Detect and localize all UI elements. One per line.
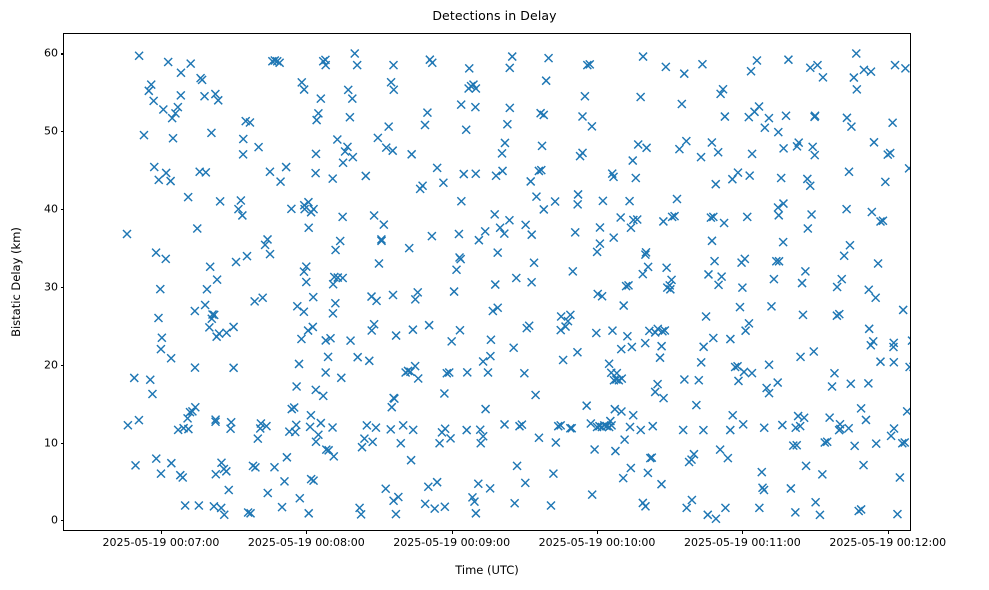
scatter-marker <box>405 244 413 252</box>
scatter-marker <box>302 278 310 286</box>
scatter-marker <box>506 64 514 72</box>
scatter-marker <box>280 477 288 485</box>
scatter-marker <box>481 227 489 235</box>
scatter-marker <box>331 299 339 307</box>
scatter-marker <box>157 345 165 353</box>
scatter-marker <box>505 216 513 224</box>
scatter-marker <box>503 120 511 128</box>
scatter-marker <box>799 311 807 319</box>
scatter-marker <box>527 177 535 185</box>
scatter-marker <box>538 142 546 150</box>
scatter-marker <box>591 446 599 454</box>
scatter-marker <box>535 434 543 442</box>
scatter-marker <box>765 114 773 122</box>
scatter-marker <box>775 211 783 219</box>
scatter-marker <box>140 131 148 139</box>
scatter-marker <box>654 380 662 388</box>
scatter-marker <box>259 294 267 302</box>
scatter-marker <box>254 435 262 443</box>
x-tick-mark <box>742 530 743 534</box>
scatter-marker <box>332 246 340 254</box>
scatter-marker <box>337 374 345 382</box>
scatter-marker <box>678 100 686 108</box>
scatter-marker <box>169 134 177 142</box>
scatter-marker <box>628 343 636 351</box>
scatter-marker <box>571 228 579 236</box>
scatter-marker <box>720 219 728 227</box>
scatter-marker <box>812 498 820 506</box>
scatter-marker <box>354 353 362 361</box>
scatter-marker <box>627 464 635 472</box>
scatter-marker <box>179 474 187 482</box>
scatter-marker <box>843 114 851 122</box>
scatter-marker <box>191 364 199 372</box>
scatter-marker <box>708 237 716 245</box>
scatter-marker <box>300 86 308 94</box>
scatter-marker <box>501 420 509 428</box>
scatter-marker <box>651 388 659 396</box>
scatter-marker <box>747 67 755 75</box>
scatter-marker <box>408 150 416 158</box>
scatter-marker <box>656 354 664 362</box>
scatter-marker <box>809 143 817 151</box>
scatter-marker <box>645 327 653 335</box>
scatter-marker <box>522 221 530 229</box>
scatter-marker <box>660 394 668 402</box>
scatter-marker <box>380 221 388 229</box>
scatter-marker <box>310 205 318 213</box>
y-axis-label-text: Bistatic Delay (km) <box>9 227 23 337</box>
scatter-marker <box>755 504 763 512</box>
scatter-marker <box>351 49 359 57</box>
scatter-marker <box>574 200 582 208</box>
scatter-marker <box>857 505 865 513</box>
scatter-marker <box>862 416 870 424</box>
scatter-marker <box>377 235 385 243</box>
scatter-marker <box>203 285 211 293</box>
scatter-marker <box>191 307 199 315</box>
x-tick-label: 2025-05-19 00:09:00 <box>393 536 510 549</box>
scatter-marker <box>847 123 855 131</box>
scatter-marker <box>436 439 444 447</box>
scatter-marker <box>463 368 471 376</box>
scatter-marker <box>738 259 746 267</box>
scatter-marker <box>349 153 357 161</box>
scatter-marker <box>621 436 629 444</box>
scatter-marker <box>489 307 497 315</box>
scatter-marker <box>780 144 788 152</box>
scatter-marker <box>414 288 422 296</box>
scatter-marker <box>319 392 327 400</box>
scatter-marker <box>177 69 185 77</box>
scatter-marker <box>804 225 812 233</box>
x-tick-mark <box>452 530 453 534</box>
x-tick-label: 2025-05-19 00:08:00 <box>248 536 365 549</box>
scatter-marker <box>874 260 882 268</box>
scatter-marker <box>184 193 192 201</box>
scatter-marker <box>889 119 897 127</box>
scatter-marker <box>528 231 536 239</box>
scatter-marker <box>387 425 395 433</box>
scatter-marker <box>465 64 473 72</box>
scatter-marker <box>611 405 619 413</box>
scatter-marker <box>767 302 775 310</box>
scatter-marker <box>463 426 471 434</box>
scatter-marker <box>906 363 910 371</box>
scatter-marker <box>574 190 582 198</box>
scatter-marker <box>239 150 247 158</box>
y-tick-mark <box>61 209 65 210</box>
scatter-marker <box>845 168 853 176</box>
scatter-marker <box>845 424 853 432</box>
scatter-points-layer <box>64 34 910 530</box>
x-tick-label: 2025-05-19 00:10:00 <box>539 536 656 549</box>
scatter-marker <box>840 252 848 260</box>
scatter-marker <box>525 322 533 330</box>
scatter-marker <box>222 467 230 475</box>
scatter-marker <box>167 459 175 467</box>
scatter-marker <box>770 275 778 283</box>
scatter-marker <box>753 56 761 64</box>
scatter-marker <box>375 260 383 268</box>
y-tick-mark <box>61 520 65 521</box>
scatter-marker <box>167 177 175 185</box>
scatter-marker <box>745 113 753 121</box>
scatter-marker <box>787 484 795 492</box>
scatter-marker <box>679 426 687 434</box>
scatter-marker <box>441 503 449 511</box>
scatter-marker <box>202 168 210 176</box>
scatter-marker <box>494 304 502 312</box>
scatter-marker <box>363 421 371 429</box>
scatter-marker <box>356 504 364 512</box>
scatter-marker <box>159 105 167 113</box>
y-tick-mark <box>61 53 65 54</box>
scatter-marker <box>135 416 143 424</box>
scatter-marker <box>581 92 589 100</box>
scatter-marker <box>312 150 320 158</box>
scatter-marker <box>501 139 509 147</box>
scatter-marker <box>908 337 910 345</box>
scatter-marker <box>716 446 724 454</box>
y-tick-mark <box>61 131 65 132</box>
scatter-marker <box>779 238 787 246</box>
scatter-marker <box>886 149 894 157</box>
scatter-marker <box>743 213 751 221</box>
scatter-marker <box>520 369 528 377</box>
scatter-marker <box>512 274 520 282</box>
scatter-marker <box>748 150 756 158</box>
scatter-marker <box>578 112 586 120</box>
scatter-marker <box>212 470 220 478</box>
scatter-marker <box>329 424 337 432</box>
scatter-marker <box>782 112 790 120</box>
scatter-marker <box>903 407 910 415</box>
scatter-marker <box>409 426 417 434</box>
scatter-marker <box>639 53 647 61</box>
x-tick-mark <box>161 530 162 534</box>
scatter-marker <box>872 440 880 448</box>
scatter-marker <box>399 421 407 429</box>
scatter-marker <box>511 499 519 507</box>
scatter-marker <box>491 210 499 218</box>
scatter-marker <box>583 402 591 410</box>
scatter-marker <box>428 59 436 67</box>
scatter-marker <box>362 172 370 180</box>
scatter-marker <box>312 438 320 446</box>
scatter-marker <box>312 386 320 394</box>
scatter-marker <box>297 335 305 343</box>
scatter-marker <box>390 61 398 69</box>
scatter-marker <box>132 461 140 469</box>
scatter-marker <box>692 401 700 409</box>
scatter-marker <box>738 284 746 292</box>
scatter-marker <box>870 138 878 146</box>
scatter-marker <box>382 485 390 493</box>
scatter-marker <box>774 203 782 211</box>
scatter-marker <box>150 163 158 171</box>
scatter-marker <box>850 74 858 82</box>
scatter-marker <box>479 357 487 365</box>
scatter-marker <box>617 345 625 353</box>
scatter-marker <box>205 323 213 331</box>
scatter-marker <box>344 86 352 94</box>
scatter-marker <box>158 334 166 342</box>
scatter-marker <box>130 374 138 382</box>
scatter-marker <box>313 116 321 124</box>
scatter-marker <box>387 78 395 86</box>
scatter-marker <box>293 302 301 310</box>
scatter-marker <box>803 175 811 183</box>
scatter-marker <box>414 374 422 382</box>
scatter-marker <box>838 275 846 283</box>
y-tick-label: 10 <box>44 436 58 449</box>
x-tick-mark <box>597 530 598 534</box>
scatter-marker <box>688 496 696 504</box>
scatter-marker <box>552 439 560 447</box>
scatter-marker <box>802 462 810 470</box>
scatter-marker <box>532 193 540 201</box>
scatter-marker <box>617 214 625 222</box>
scatter-marker <box>810 347 818 355</box>
scatter-marker <box>828 382 836 390</box>
scatter-marker <box>532 391 540 399</box>
scatter-marker <box>329 280 337 288</box>
scatter-marker <box>540 205 548 213</box>
scatter-marker <box>472 509 480 517</box>
scatter-marker <box>639 270 647 278</box>
scatter-marker <box>322 368 330 376</box>
scatter-marker <box>336 237 344 245</box>
scatter-marker <box>213 276 221 284</box>
scatter-marker <box>484 368 492 376</box>
scatter-marker <box>486 352 494 360</box>
scatter-marker <box>304 327 312 335</box>
scatter-marker <box>777 174 785 182</box>
scatter-marker <box>712 515 720 523</box>
scatter-marker <box>596 240 604 248</box>
scatter-marker <box>348 95 356 103</box>
y-tick-label: 20 <box>44 358 58 371</box>
marker-group <box>123 49 910 522</box>
scatter-marker <box>592 329 600 337</box>
scatter-marker <box>573 348 581 356</box>
scatter-marker <box>462 126 470 134</box>
scatter-marker <box>146 376 154 384</box>
scatter-marker <box>411 362 419 370</box>
scatter-marker <box>748 369 756 377</box>
scatter-marker <box>611 447 619 455</box>
scatter-marker <box>494 249 502 257</box>
scatter-marker <box>649 422 657 430</box>
scatter-marker <box>760 424 768 432</box>
scatter-marker <box>599 197 607 205</box>
scatter-marker <box>390 86 398 94</box>
scatter-marker <box>360 435 368 443</box>
scatter-marker <box>227 425 235 433</box>
scatter-marker <box>881 178 889 186</box>
scatter-marker <box>662 63 670 71</box>
scatter-marker <box>409 326 417 334</box>
scatter-marker <box>891 61 899 69</box>
scatter-marker <box>695 376 703 384</box>
scatter-marker <box>852 49 860 57</box>
scatter-marker <box>499 167 507 175</box>
scatter-marker <box>225 486 233 494</box>
scatter-marker <box>698 60 706 68</box>
scatter-marker <box>779 200 787 208</box>
scatter-marker <box>857 404 865 412</box>
scatter-marker <box>745 319 753 327</box>
scatter-marker <box>496 224 504 232</box>
scatter-marker <box>329 175 337 183</box>
scatter-marker <box>453 266 461 274</box>
scatter-marker <box>168 114 176 122</box>
scatter-marker <box>295 360 303 368</box>
scatter-marker <box>632 174 640 182</box>
scatter-marker <box>513 462 521 470</box>
scatter-svg <box>64 34 910 530</box>
scatter-marker <box>549 470 557 478</box>
scatter-marker <box>718 273 726 281</box>
scatter-marker <box>860 461 868 469</box>
scatter-marker <box>290 404 298 412</box>
scatter-marker <box>641 339 649 347</box>
scatter-marker <box>457 101 465 109</box>
scatter-marker <box>347 337 355 345</box>
scatter-marker <box>794 412 802 420</box>
scatter-marker <box>819 73 827 81</box>
scatter-marker <box>460 170 468 178</box>
scatter-marker <box>682 137 690 145</box>
scatter-marker <box>774 128 782 136</box>
scatter-marker <box>639 499 647 507</box>
scatter-marker <box>843 205 851 213</box>
scatter-marker <box>447 434 455 442</box>
y-tick-label: 30 <box>44 280 58 293</box>
scatter-marker <box>596 224 604 232</box>
scatter-marker <box>389 291 397 299</box>
scatter-marker <box>830 369 838 377</box>
scatter-marker <box>608 327 616 335</box>
scatter-marker <box>150 97 158 105</box>
x-tick-mark <box>888 530 889 534</box>
scatter-marker <box>482 405 490 413</box>
scatter-marker <box>309 323 317 331</box>
scatter-marker <box>472 170 480 178</box>
y-tick-label: 50 <box>44 125 58 138</box>
scatter-marker <box>702 312 710 320</box>
scatter-marker <box>663 264 671 272</box>
scatter-marker <box>734 377 742 385</box>
scatter-marker <box>278 503 286 511</box>
scatter-marker <box>440 389 448 397</box>
scatter-marker <box>801 267 809 275</box>
scatter-marker <box>709 334 717 342</box>
scatter-marker <box>148 390 156 398</box>
scatter-marker <box>291 428 299 436</box>
y-tick-label: 60 <box>44 47 58 60</box>
scatter-marker <box>232 258 240 266</box>
scatter-marker <box>187 60 195 68</box>
scatter-marker <box>390 497 398 505</box>
scatter-marker <box>266 250 274 258</box>
scatter-marker <box>329 309 337 317</box>
scatter-marker <box>784 56 792 64</box>
scatter-marker <box>721 504 729 512</box>
scatter-marker <box>357 510 365 518</box>
scatter-marker <box>407 456 415 464</box>
scatter-marker <box>521 479 529 487</box>
scatter-marker <box>644 469 652 477</box>
scatter-marker <box>300 308 308 316</box>
scatter-marker <box>177 91 185 99</box>
scatter-marker <box>712 180 720 188</box>
scatter-marker <box>742 327 750 335</box>
scatter-marker <box>423 109 431 117</box>
x-tick-mark <box>306 530 307 534</box>
scatter-marker <box>835 310 843 318</box>
scatter-marker <box>307 411 315 419</box>
scatter-marker <box>740 368 748 376</box>
scatter-marker <box>896 474 904 482</box>
scatter-marker <box>808 210 816 218</box>
scatter-marker <box>155 176 163 184</box>
scatter-marker <box>778 421 786 429</box>
scatter-marker <box>292 421 300 429</box>
y-axis-label: Bistatic Delay (km) <box>8 33 24 531</box>
scatter-marker <box>588 122 596 130</box>
scatter-marker <box>814 61 822 69</box>
scatter-marker <box>156 285 164 293</box>
scatter-marker <box>378 237 386 245</box>
scatter-marker <box>368 293 376 301</box>
scatter-marker <box>486 484 494 492</box>
scatter-marker <box>193 225 201 233</box>
scatter-marker <box>339 274 347 282</box>
scatter-marker <box>385 123 393 131</box>
scatter-marker <box>610 234 618 242</box>
scatter-marker <box>811 113 819 121</box>
scatter-marker <box>431 505 439 513</box>
scatter-marker <box>627 224 635 232</box>
scatter-marker <box>774 379 782 387</box>
scatter-marker <box>659 217 667 225</box>
scatter-marker <box>629 411 637 419</box>
scatter-marker <box>680 376 688 384</box>
scatter-marker <box>833 283 841 291</box>
scatter-marker <box>293 382 301 390</box>
